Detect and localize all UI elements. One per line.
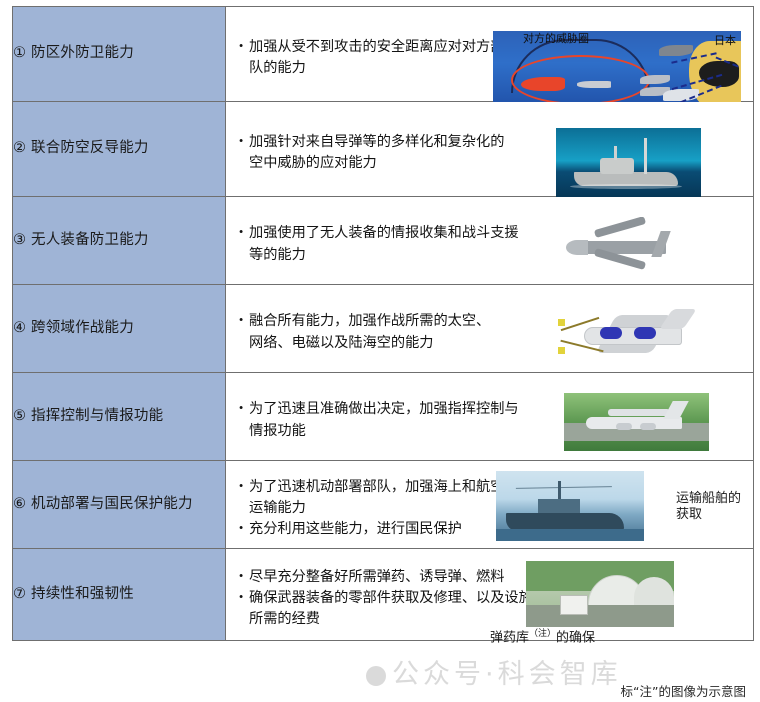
uav-nose-shape	[566, 240, 588, 255]
bullet-item: 为了迅速机动部署部队，加强海上和航空 运输能力	[236, 477, 745, 520]
watermark-dot-icon	[366, 666, 386, 686]
caption-text: 的确保	[556, 630, 595, 645]
row-label-cell-6: ⑥ 机动部署与国民保护能力	[13, 461, 226, 549]
rc2-signals-intelligence-aircraft-photo	[564, 393, 709, 451]
opponent-vessel-shape	[577, 81, 611, 88]
aircraft-fuselage-shape	[586, 417, 682, 429]
bullet-item: 充分利用这些能力，进行国民保护	[236, 519, 745, 540]
row-label-cell-4: ④ 跨领域作战能力	[13, 285, 226, 373]
table-row: ③ 无人装备防卫能力 加强使用了无人装备的情报收集和战斗支援 等的能力	[13, 197, 754, 285]
table-row: ④ 跨领域作战能力 融合所有能力，加强作战所需的太空、 网络、电磁以及陆海空的能…	[13, 285, 754, 373]
ship-superstructure-shape	[600, 158, 634, 174]
defense-capabilities-table: ① 防区外防卫能力 加强从受不到攻击的安全距离应对对方部 队的能力	[12, 6, 754, 641]
aircraft-wing-shape	[608, 409, 670, 416]
row-label-cell-3: ③ 无人装备防卫能力	[13, 197, 226, 285]
aircraft-engine-shape	[640, 423, 656, 430]
threat-ring-label: 对方的威胁圈	[523, 31, 589, 46]
opponent-force-shape	[521, 77, 565, 91]
table-row: ⑥ 机动部署与国民保护能力 为了迅速机动部署部队，加强海上和航空 运输能力 充分…	[13, 461, 754, 549]
threat-ring-diagram: 对方的威胁圈 日本	[493, 31, 741, 111]
row-label-6: ⑥ 机动部署与国民保护能力	[13, 496, 193, 512]
row-body-cell-4: 融合所有能力，加强作战所需的太空、 网络、电磁以及陆海空的能力	[226, 285, 754, 373]
aircraft-tail-shape	[663, 401, 689, 419]
ship-mast-shape	[644, 138, 647, 174]
row-body-cell-2: 加强针对来自导弹等的多样化和复杂化的 空中威胁的应对能力 宙斯盾系统搭载舰（注）…	[226, 102, 754, 197]
row-label-cell-7: ⑦ 持续性和强韧性	[13, 549, 226, 641]
table-row: ⑦ 持续性和强韧性 尽早充分整备好所需弹药、诱导弹、燃料 确保武器装备的零部件获…	[13, 549, 754, 641]
aircraft-fuselage-shape	[584, 327, 682, 345]
row-label-3: ③ 无人装备防卫能力	[13, 232, 149, 248]
caption-text: 弹药库	[490, 630, 529, 645]
row-label-cell-5: ⑤ 指挥控制与情报功能	[13, 373, 226, 461]
row-body-cell-6: 为了迅速机动部署部队，加强海上和航空 运输能力 充分利用这些能力，进行国民保护 …	[226, 461, 754, 549]
fighter-jet-icon	[659, 45, 693, 56]
japan-label: 日本	[714, 32, 736, 48]
friendly-vessel-shape	[640, 75, 670, 84]
row-body-cell-5: 为了迅速且准确做出决定，加强指挥控制与 情报功能 电波情报收集机（RC-2）的获…	[226, 373, 754, 461]
row-body-cell-1: 加强从受不到攻击的安全距离应对对方部 队的能力	[226, 7, 754, 102]
watermark: 公众号·科会智库	[366, 652, 622, 691]
table-row: ① 防区外防卫能力 加强从受不到攻击的安全距离应对对方部 队的能力	[13, 7, 754, 102]
ship-mast-shape	[614, 146, 617, 160]
standoff-electronic-warfare-aircraft-photo	[548, 305, 703, 361]
caption-text: 运输船舶的 获取	[676, 491, 741, 522]
watermark-text: 公众号·科会智库	[392, 659, 622, 690]
row-bullets-6: 为了迅速机动部署部队，加强海上和航空 运输能力 充分利用这些能力，进行国民保护	[226, 467, 753, 543]
table-row: ⑤ 指挥控制与情报功能 为了迅速且准确做出决定，加强指挥控制与 情报功能	[13, 373, 754, 461]
transport-vessel-photo	[496, 471, 644, 541]
jamming-pod-shape	[600, 327, 622, 339]
row-body-cell-7: 尽早充分整备好所需弹药、诱导弹、燃料 确保武器装备的零部件获取及修理、以及设施的…	[226, 549, 754, 641]
aircraft-tail-shape	[659, 309, 696, 329]
aircraft-engine-shape	[616, 423, 632, 430]
antenna-tip-shape	[558, 319, 565, 326]
row-label-4: ④ 跨领域作战能力	[13, 320, 134, 336]
row-label-cell-2: ② 联合防空反导能力	[13, 102, 226, 197]
row-body-cell-3: 加强使用了无人装备的情报收集和战斗支援 等的能力 侦察用UAV（中程用）（注）的…	[226, 197, 754, 285]
ship-deckhouse-shape	[538, 499, 580, 514]
sea-surface-shape	[496, 529, 644, 541]
reconnaissance-uav-photo	[536, 217, 701, 275]
row-caption-6: 运输船舶的 获取	[676, 475, 741, 524]
footnote: 标“注”的图像为示意图	[621, 681, 746, 700]
row-label-7: ⑦ 持续性和强韧性	[13, 586, 134, 602]
antenna-tip-shape	[558, 347, 565, 354]
note-marker: （注）	[529, 629, 556, 639]
row-label-cell-1: ① 防区外防卫能力	[13, 7, 226, 102]
row-caption-7: 弹药库（注）的确保	[490, 613, 595, 647]
jamming-pod-shape	[634, 327, 656, 339]
row-label-5: ⑤ 指挥控制与情报功能	[13, 408, 163, 424]
uav-wing-shape	[594, 217, 646, 238]
table-row: ② 联合防空反导能力 加强针对来自导弹等的多样化和复杂化的 空中威胁的应对能力	[13, 102, 754, 197]
ship-mast-shape	[558, 481, 561, 501]
capability-table-sheet: ① 防区外防卫能力 加强从受不到攻击的安全距离应对对方部 队的能力	[0, 6, 760, 702]
depot-structure-shape	[560, 595, 588, 615]
row-label-1: ① 防区外防卫能力	[13, 45, 134, 61]
row-label-2: ② 联合防空反导能力	[13, 140, 149, 156]
